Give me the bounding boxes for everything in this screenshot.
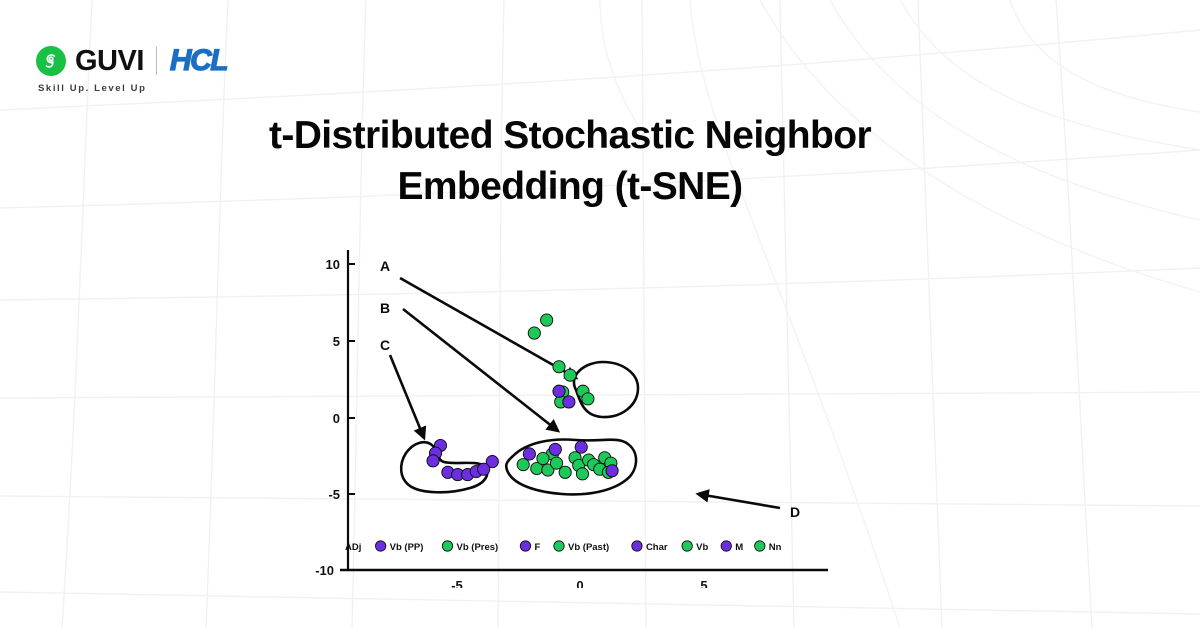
scatter-point-green [528, 327, 540, 339]
legend-item-f[interactable]: F [520, 541, 540, 553]
legend-item-m[interactable]: M [721, 541, 743, 553]
scatter-point-green [541, 314, 553, 326]
scatter-point-purple [427, 455, 439, 467]
x-tick-label-neg5: -5 [451, 578, 463, 588]
legend-item-nn[interactable]: Nn [755, 541, 782, 553]
scatter-point-green [559, 466, 571, 478]
annotation-label-b: B [380, 300, 390, 316]
legend-item-adj[interactable]: ADj [345, 542, 361, 553]
scatter-point-green [576, 468, 588, 480]
scatter-point-green [517, 459, 529, 471]
legend-label: M [735, 542, 743, 553]
scatter-point-purple [549, 443, 561, 455]
page-title: t-Distributed Stochastic Neighbor Embedd… [180, 110, 960, 213]
y-tick-label-neg5: -5 [328, 487, 340, 502]
legend-item-vb-pres[interactable]: Vb (Pres) [442, 541, 498, 553]
hcl-wordmark: HCL [170, 46, 227, 76]
x-axis-ticks: -5 0 5 [451, 578, 707, 588]
scatter-point-green [564, 369, 576, 381]
scatter-point-purple [606, 465, 618, 477]
legend-label: Vb [696, 542, 708, 553]
page-title-line-2: Embedding (t-SNE) [180, 161, 960, 212]
annotation-label-c: C [380, 337, 390, 353]
annotation-label-d: D [790, 504, 800, 520]
legend-marker-icon [632, 541, 642, 551]
page-title-line-1: t-Distributed Stochastic Neighbor [180, 110, 960, 161]
legend-label: ADj [345, 542, 361, 553]
legend-label: Char [646, 542, 668, 553]
scatter-point-purple [523, 448, 535, 460]
scatter-point-purple [563, 396, 575, 408]
x-tick-label-5: 5 [700, 578, 707, 588]
y-tick-label-neg10: -10 [315, 563, 334, 578]
guvi-wordmark: GUVI [75, 47, 144, 76]
slide-canvas: GUVI HCL Skill Up. Level Up t-Distribute… [0, 0, 1200, 628]
brand-tagline: Skill Up. Level Up [38, 83, 227, 94]
scatter-point-green [537, 452, 549, 464]
x-tick-label-0: 0 [576, 578, 583, 588]
legend-marker-icon [375, 541, 385, 551]
legend-marker-icon [520, 541, 530, 551]
annotation-label-a: A [380, 258, 390, 274]
legend-marker-icon [554, 541, 564, 551]
legend-label: F [534, 542, 540, 553]
scatter-point-purple [575, 441, 587, 453]
annotation-arrow-d [698, 494, 780, 508]
legend-marker-icon [755, 541, 765, 551]
scatter-point-green [553, 361, 565, 373]
legend-item-vb-past[interactable]: Vb (Past) [554, 541, 609, 553]
scatter-point-green [550, 457, 562, 469]
guvi-g-icon [36, 46, 66, 76]
y-tick-label-0: 0 [333, 411, 340, 426]
brand-row: GUVI HCL [36, 46, 227, 76]
legend-item-vb-pp[interactable]: Vb (PP) [375, 541, 423, 553]
scatter-point-green [582, 393, 594, 405]
legend-marker-icon [442, 541, 452, 551]
brand-divider [156, 47, 157, 75]
legend-label: Vb (PP) [390, 542, 424, 553]
legend-item-vb[interactable]: Vb [682, 541, 709, 553]
legend-label: Nn [769, 542, 782, 553]
scatter-point-purple [478, 463, 490, 475]
scatter-points-layer [427, 314, 618, 481]
legend-marker-icon [682, 541, 692, 551]
annotation-arrow-c [390, 355, 424, 438]
scatter-point-purple [553, 385, 565, 397]
y-tick-label-10: 10 [326, 257, 340, 272]
y-tick-label-5: 5 [333, 334, 340, 349]
tsne-scatter-plot: 10 5 0 -5 -10 -5 0 5 [300, 238, 860, 588]
brand-lockup: GUVI HCL Skill Up. Level Up [36, 46, 227, 94]
legend-label: Vb (Past) [568, 542, 609, 553]
legend-marker-icon [721, 541, 731, 551]
legend-label: Vb (Pres) [457, 542, 499, 553]
legend-item-char[interactable]: Char [632, 541, 668, 553]
chart-legend: ADjVb (PP)Vb (Pres)FVb (Past)CharVbMNn [345, 541, 782, 553]
